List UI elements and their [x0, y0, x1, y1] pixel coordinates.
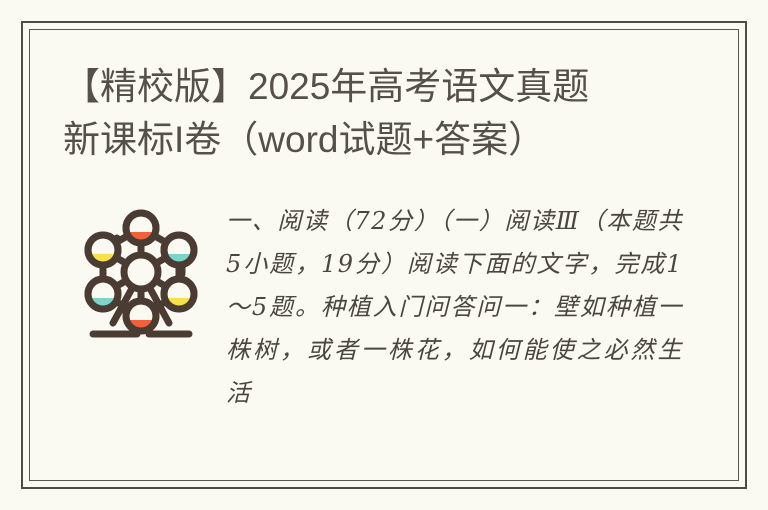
page-title: 【精校版】2025年高考语文真题 新课标I卷（word试题+答案） [63, 60, 703, 166]
gondola-bottom [126, 301, 156, 331]
thumbnail [63, 200, 218, 340]
content-row: 一、阅读（72分）（一）阅读Ⅲ（本题共5小题，19分）阅读下面的文字，完成1～5… [63, 200, 683, 415]
hub [124, 255, 158, 289]
gondola-upper-left [88, 235, 118, 265]
title-line-1: 【精校版】2025年高考语文真题 [63, 60, 703, 113]
body-paragraph: 一、阅读（72分）（一）阅读Ⅲ（本题共5小题，19分）阅读下面的文字，完成1～5… [218, 200, 683, 415]
ferris-wheel-icon [81, 208, 201, 340]
document-card: 【精校版】2025年高考语文真题 新课标I卷（word试题+答案） [0, 0, 768, 510]
gondola-lower-right [164, 279, 194, 309]
gondola-upper-right [164, 235, 194, 265]
gondola-top [126, 213, 156, 243]
title-line-2: 新课标I卷（word试题+答案） [63, 113, 703, 166]
gondola-lower-left [88, 279, 118, 309]
